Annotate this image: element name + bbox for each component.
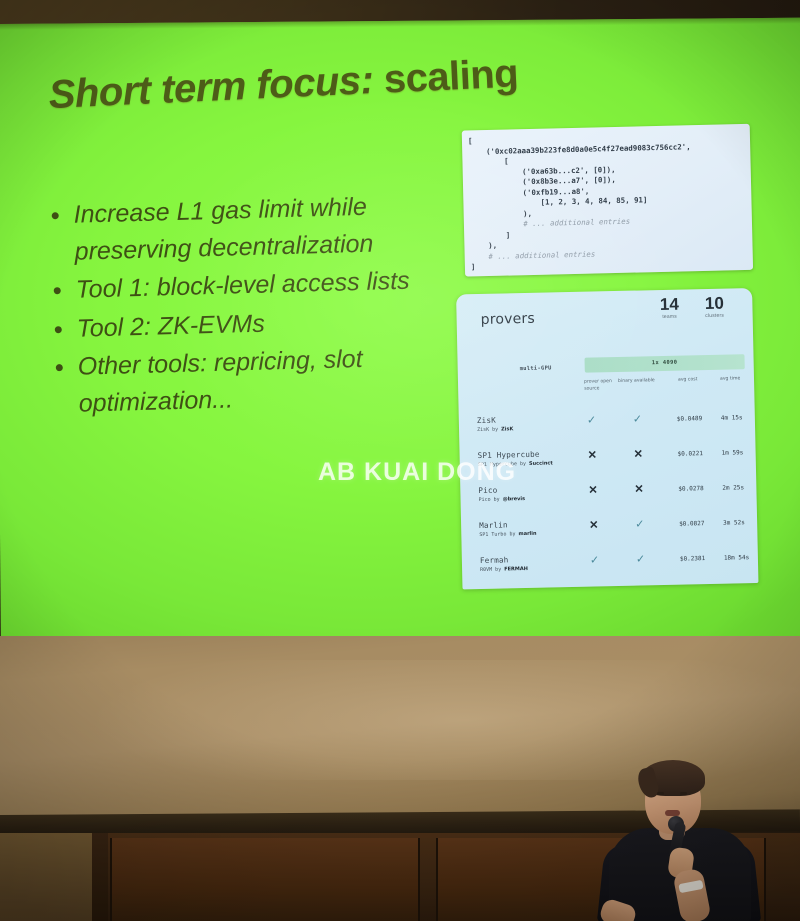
- col-header-cost: avg cost: [678, 377, 718, 383]
- row-subtitle: Pico by @brevis: [479, 496, 526, 503]
- band-header-label: 1x 4090: [585, 354, 745, 372]
- photo-scene: Short term focus: scaling Increase L1 ga…: [0, 0, 800, 921]
- col-header-prover-open: prover open source: [584, 379, 614, 393]
- slide-bullet-list: Increase L1 gas limit while preserving d…: [41, 187, 457, 425]
- speaker-figure: [595, 752, 765, 921]
- slide-title-plain: Short term focus:: [48, 58, 375, 117]
- table-row: Fermah R0VM by FERMAH ✓ ✓ $0.2381 18m 54…: [462, 546, 759, 587]
- check-icon: ✓: [633, 414, 642, 425]
- row-cost: $0.0827: [679, 520, 704, 528]
- provers-title: provers: [480, 311, 535, 328]
- group-label-multi-gpu: multi-GPU: [520, 365, 552, 372]
- row-cost: $0.0221: [678, 450, 703, 458]
- row-cost: $0.0489: [677, 415, 702, 423]
- stat-clusters-label: clusters: [694, 312, 736, 319]
- bullet-item-4: Other tools: repricing, slot optimizatio…: [77, 338, 457, 421]
- row-cost: $0.0278: [678, 485, 703, 493]
- row-time: 1m 59s: [722, 449, 744, 456]
- stat-clusters-value: 10: [693, 294, 735, 313]
- row-subtitle: ZisK by ZisK: [477, 426, 513, 433]
- speaker-eye-left: [657, 792, 664, 795]
- cross-icon: ✕: [588, 485, 597, 496]
- code-snippet-panel: [ ('0xc02aaa39b223fe8d0a0e5c4f27ead9083c…: [462, 124, 753, 277]
- check-icon: ✓: [635, 519, 644, 530]
- row-name: Fermah: [480, 555, 509, 565]
- cross-icon: ✕: [589, 520, 598, 531]
- row-subtitle: SP1 Hypercube by Succinct: [478, 460, 553, 468]
- row-time: 18m 54s: [724, 554, 749, 562]
- provers-header: provers 14 teams 10 clusters: [456, 288, 753, 352]
- cross-icon: ✕: [588, 450, 597, 461]
- row-name: ZisK: [477, 416, 496, 425]
- wood-panel-1: [110, 838, 420, 921]
- provers-benchmark-panel: provers 14 teams 10 clusters multi-GPU 1…: [456, 288, 758, 589]
- check-icon: ✓: [587, 415, 596, 426]
- wood-lit-edge: [0, 833, 92, 921]
- speaker-mouth: [665, 810, 680, 816]
- stat-teams: 14 teams: [648, 295, 691, 320]
- cross-icon: ✕: [634, 449, 643, 460]
- provers-column-headers: prover open source binary available avg …: [458, 376, 754, 408]
- stat-teams-label: teams: [649, 313, 691, 320]
- check-icon: ✓: [590, 555, 599, 566]
- row-subtitle: SP1 Turbo by marlin: [479, 531, 536, 538]
- row-cost: $0.2381: [680, 555, 705, 563]
- col-header-binary: binary available: [618, 378, 672, 384]
- code-snippet-text: [ ('0xc02aaa39b223fe8d0a0e5c4f27ead9083c…: [462, 124, 753, 273]
- check-icon: ✓: [636, 554, 645, 565]
- col-header-time: avg time: [720, 376, 759, 382]
- projection-screen: Short term focus: scaling Increase L1 ga…: [0, 18, 800, 654]
- stat-clusters: 10 clusters: [693, 294, 736, 319]
- band-header-4090: 1x 4090: [585, 354, 745, 372]
- stat-teams-value: 14: [648, 295, 690, 314]
- row-name: Marlin: [479, 520, 508, 530]
- row-name: Pico: [478, 486, 497, 495]
- slide-title-accent: scaling: [372, 51, 519, 102]
- row-time: 4m 15s: [721, 414, 743, 421]
- speaker-eye-right: [680, 792, 687, 795]
- row-time: 3m 52s: [723, 519, 745, 526]
- row-subtitle: R0VM by FERMAH: [480, 566, 528, 573]
- provers-rows: ZisK ZisK by ZisK ✓ ✓ $0.0489 4m 15s SP1…: [459, 406, 759, 587]
- slide-title: Short term focus: scaling: [48, 45, 649, 118]
- row-name: SP1 Hypercube: [478, 450, 540, 460]
- row-time: 2m 25s: [722, 484, 744, 491]
- bullet-item-1: Increase L1 gas limit while preserving d…: [73, 187, 453, 270]
- cross-icon: ✕: [634, 484, 643, 495]
